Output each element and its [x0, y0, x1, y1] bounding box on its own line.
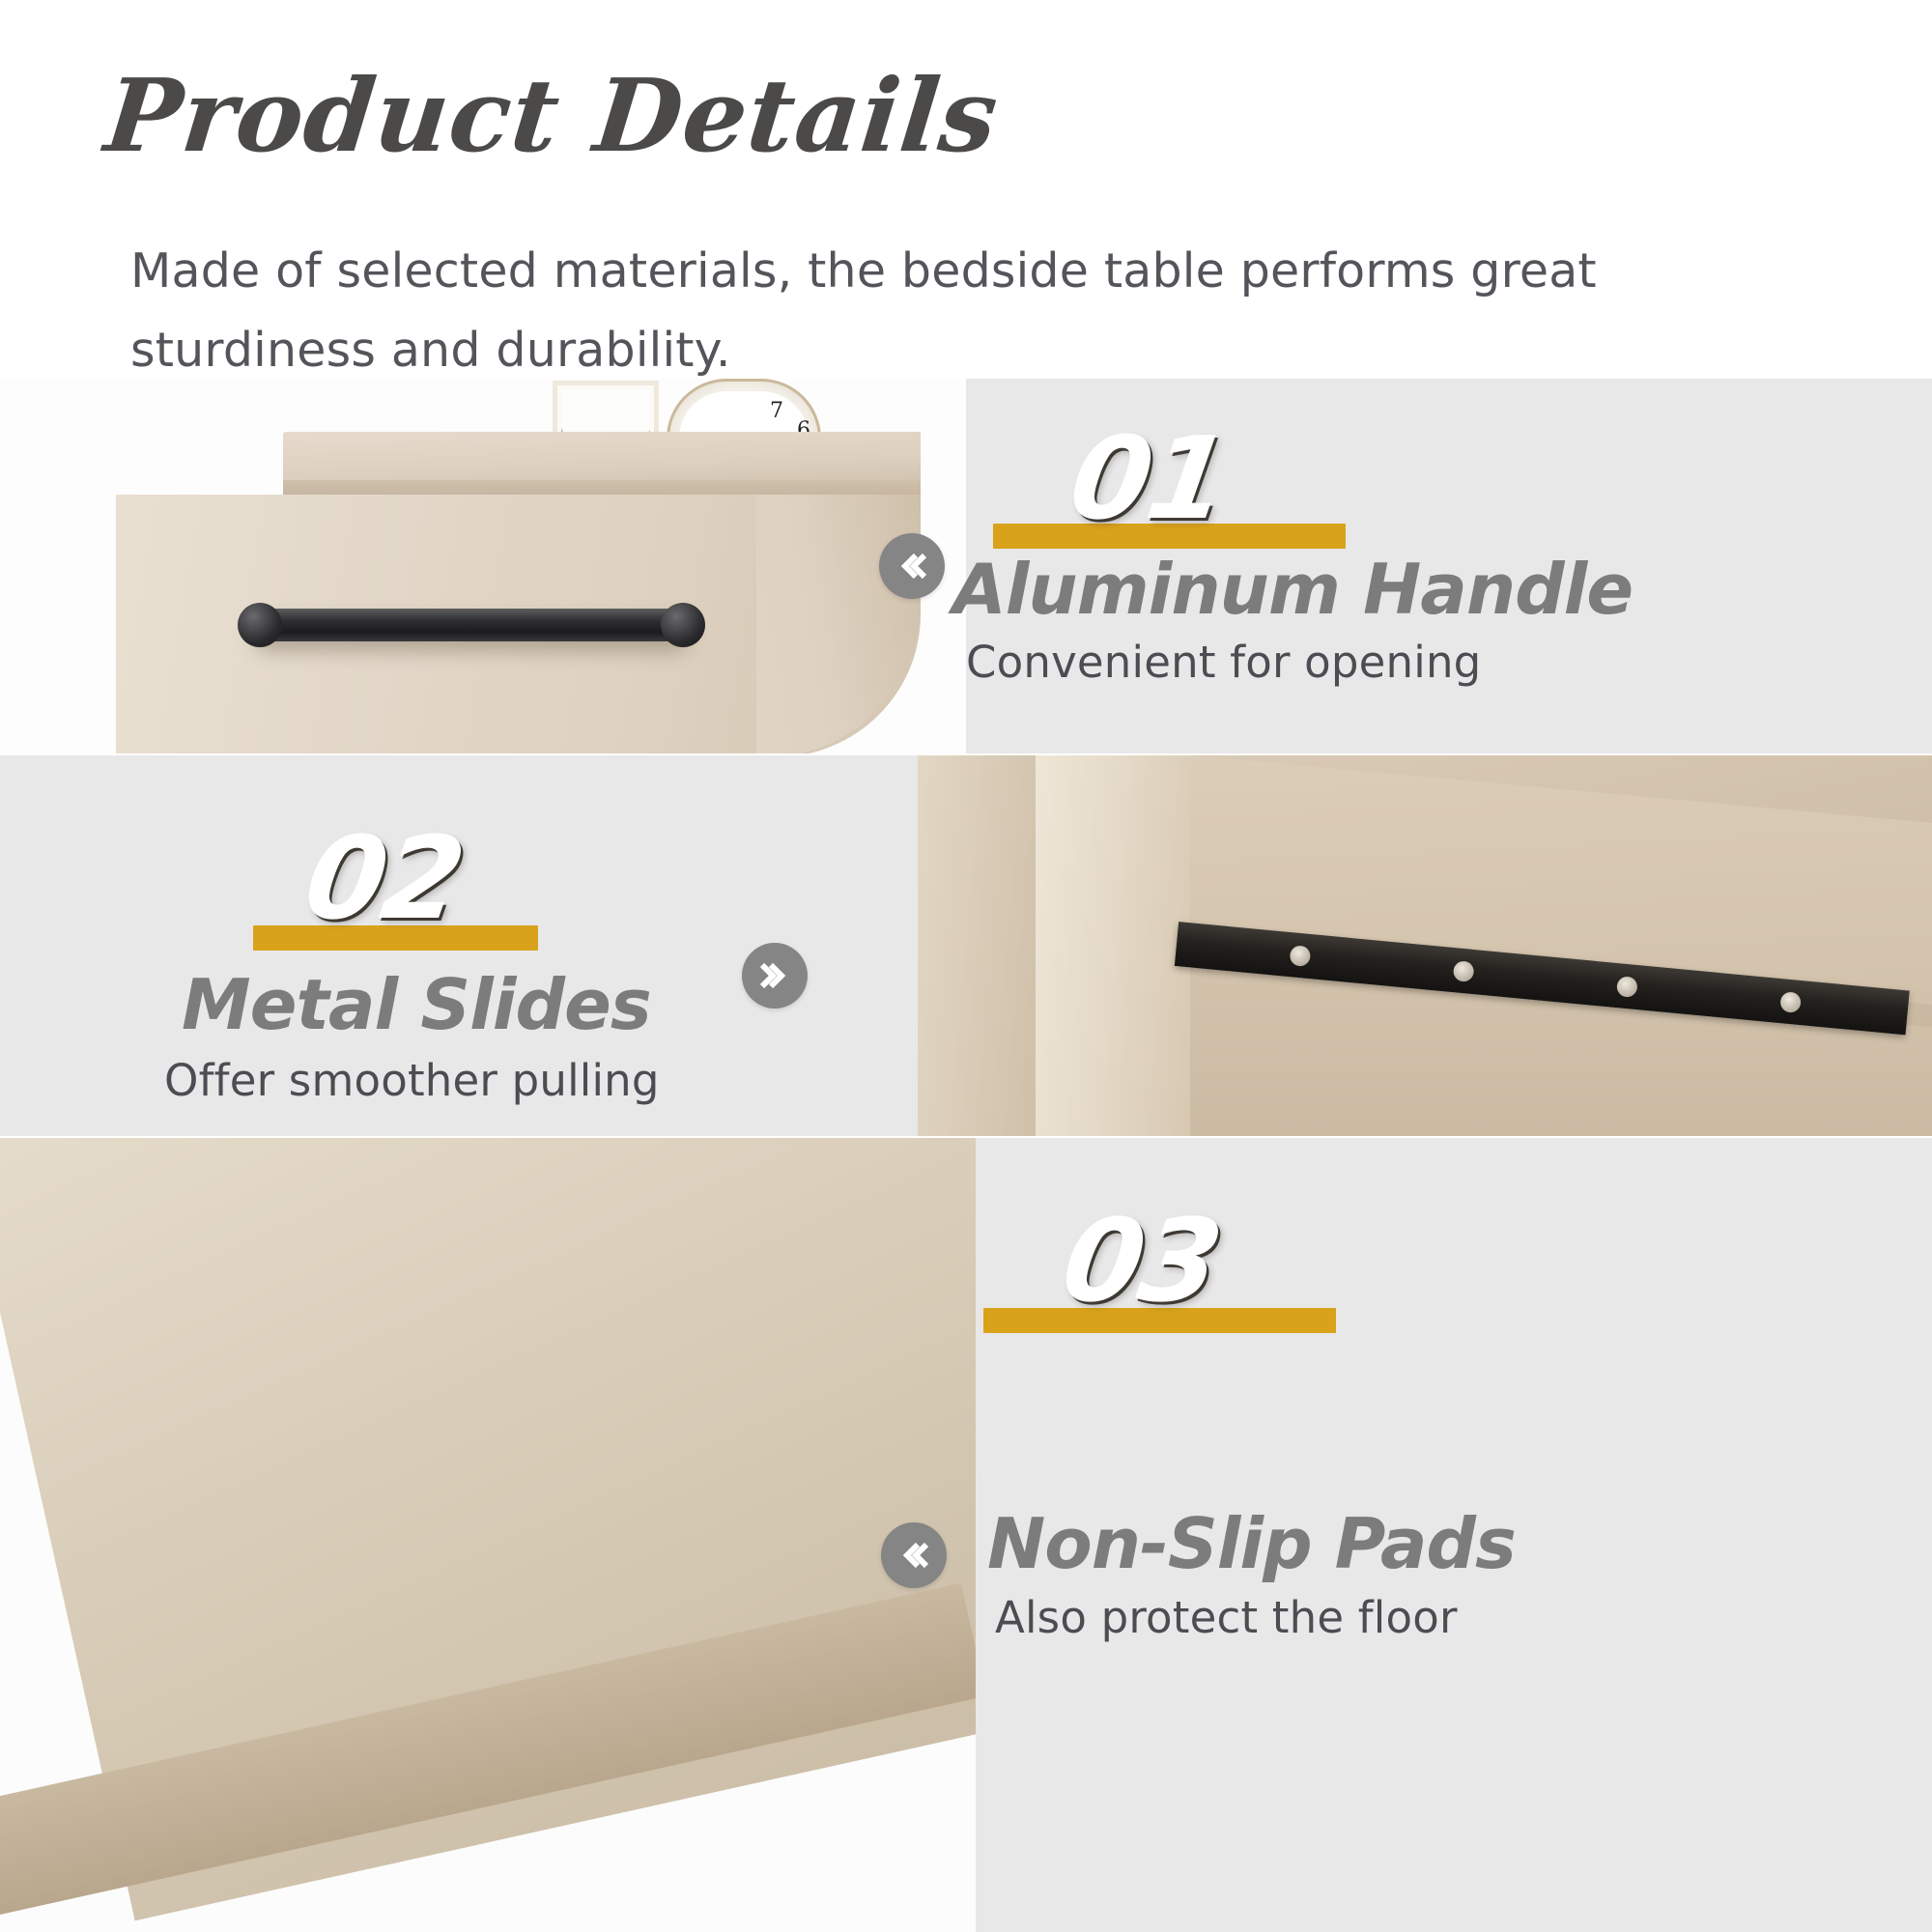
clock-numeral-7: 7	[770, 399, 783, 423]
feature-title-3: Non-Slip Pads	[987, 1505, 1516, 1582]
feature-photo-3	[0, 1138, 976, 1932]
feature-subtitle-2: Offer smoother pulling	[164, 1053, 660, 1109]
feature-badge-1: 01	[993, 413, 1346, 549]
feature-badge-3: 03	[983, 1198, 1336, 1333]
chevron-double-left-icon[interactable]	[879, 533, 945, 599]
page-header: Product Details Made of selected materia…	[0, 0, 1932, 377]
feature-panel-1: 7 6	[0, 379, 1932, 753]
page-subtitle-line-1: Made of selected materials, the bedside …	[130, 232, 1802, 311]
feature-title-2: Metal Slides	[182, 966, 651, 1043]
product-details-page: Product Details Made of selected materia…	[0, 0, 1932, 1932]
picture-frame-decor	[553, 381, 659, 437]
page-subtitle: Made of selected materials, the bedside …	[130, 232, 1802, 390]
cabinet-side-post	[918, 755, 1036, 1136]
chevron-double-right-icon[interactable]	[742, 943, 808, 1009]
aluminum-handle-photo	[253, 609, 690, 641]
feature-info-1: 01 Aluminum Handle Convenient for openin…	[966, 379, 1932, 753]
feature-subtitle-1: Convenient for opening	[966, 635, 1481, 691]
feature-panel-2: 02 Metal Slides Offer smoother pulling	[0, 755, 1932, 1136]
feature-subtitle-3: Also protect the floor	[995, 1590, 1458, 1646]
feature-number-1: 01	[1064, 421, 1235, 535]
feature-info-3: 03 Non-Slip Pads Also protect the floor	[976, 1138, 1932, 1932]
feature-title-1: Aluminum Handle	[952, 551, 1633, 628]
feature-number-2: 02	[298, 821, 469, 935]
feature-photo-2	[918, 755, 1932, 1136]
chevron-double-left-icon[interactable]	[881, 1522, 947, 1588]
feature-number-3: 03	[1056, 1204, 1227, 1318]
feature-panel-3: 03 Non-Slip Pads Also protect the floor	[0, 1138, 1932, 1932]
feature-info-2: 02 Metal Slides Offer smoother pulling	[0, 755, 918, 1136]
feature-badge-2: 02	[253, 815, 538, 951]
feature-photo-1: 7 6	[0, 379, 966, 753]
cabinet-front-post	[1036, 755, 1190, 1136]
page-title: Product Details	[100, 56, 1005, 175]
